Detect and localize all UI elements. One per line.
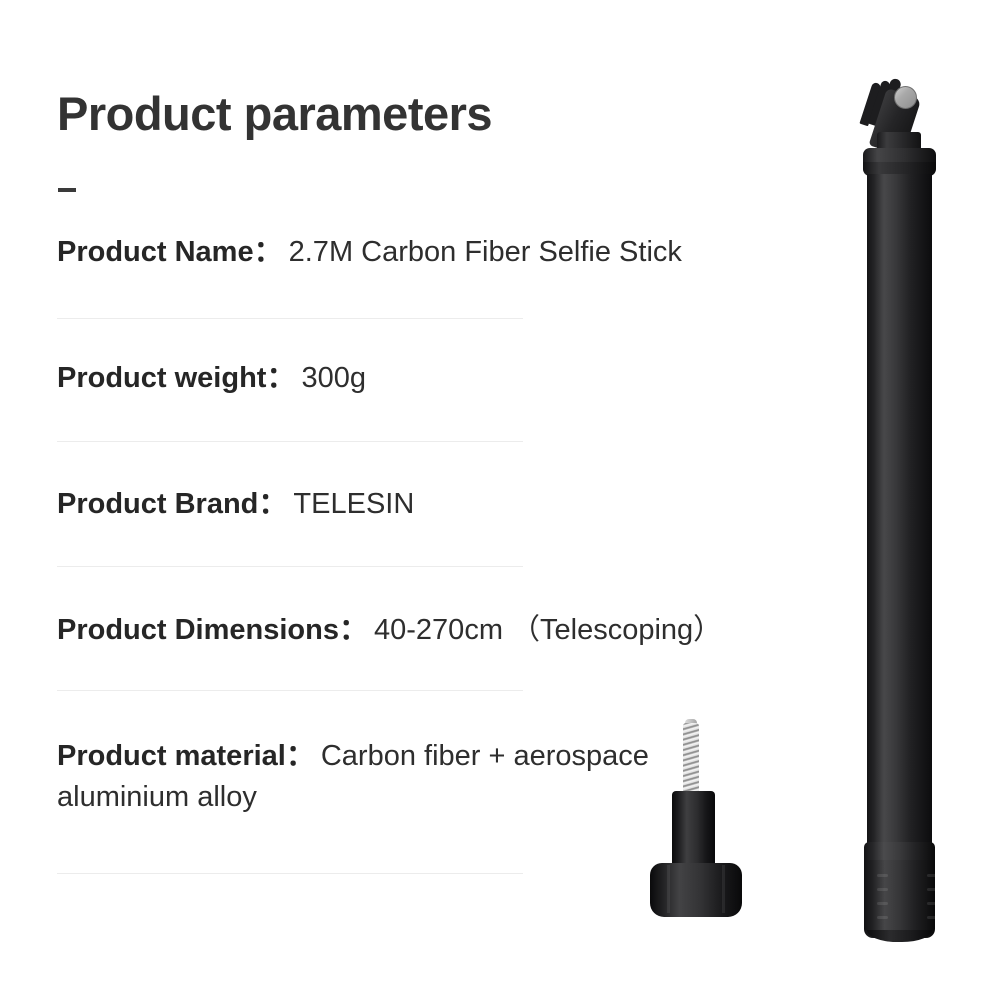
spec-colon: ：: [339, 614, 368, 646]
grip-rib: [927, 902, 938, 905]
page-title: Product parameters: [57, 88, 492, 140]
upper-collar-ring: [863, 162, 936, 174]
spec-colon: ：: [258, 488, 287, 520]
spec-colon: ：: [266, 362, 295, 394]
spec-value: TELESIN: [293, 488, 414, 520]
spec-value: 40-270cm （Telescoping）: [374, 614, 722, 646]
screw-threaded-shaft: [683, 723, 699, 795]
grip-rib: [877, 888, 888, 891]
spec-row-product-material: Product material：Carbon fiber + aerospac…: [57, 736, 667, 818]
spec-divider: [57, 690, 523, 691]
grip-rib: [927, 874, 938, 877]
spec-label: Product Name: [57, 236, 254, 268]
screw-base-notch: [722, 865, 725, 913]
selfie-stick-image: [855, 70, 945, 950]
mount-screw-head-icon: [894, 86, 917, 109]
title-dash-marker: [58, 188, 76, 192]
spec-row-product-weight: Product weight：300g: [57, 358, 887, 399]
spec-value: 2.7M Carbon Fiber Selfie Stick: [289, 236, 682, 268]
grip-rib: [927, 916, 938, 919]
spec-divider: [57, 441, 523, 442]
product-parameters-page: Product parameters Product Name：2.7M Car…: [0, 0, 1000, 1000]
grip-rib: [877, 916, 888, 919]
grip-body: [864, 860, 935, 938]
screw-knurled-base: [650, 863, 742, 917]
screw-base-notch: [667, 865, 670, 913]
spec-colon: ：: [286, 740, 315, 772]
spec-label: Product Dimensions: [57, 614, 339, 646]
telescoping-shaft: [867, 174, 932, 850]
grip-rib: [877, 874, 888, 877]
screw-barrel: [672, 791, 715, 869]
spec-row-product-dimensions: Product Dimensions：40-270cm （Telescoping…: [57, 610, 887, 651]
grip-rib: [877, 902, 888, 905]
end-cap: [867, 930, 932, 942]
spec-label: Product material: [57, 740, 286, 772]
spec-row-product-brand: Product Brand：TELESIN: [57, 484, 887, 525]
spec-value: 300g: [301, 362, 366, 394]
grip-rib: [927, 888, 938, 891]
spec-row-product-name: Product Name：2.7M Carbon Fiber Selfie St…: [57, 232, 887, 273]
spec-label: Product Brand: [57, 488, 258, 520]
spec-divider: [57, 318, 523, 319]
spec-colon: ：: [254, 236, 283, 268]
spec-label: Product weight: [57, 362, 266, 394]
spec-divider: [57, 873, 523, 874]
thumbscrew-image: [645, 715, 750, 925]
spec-divider: [57, 566, 523, 567]
